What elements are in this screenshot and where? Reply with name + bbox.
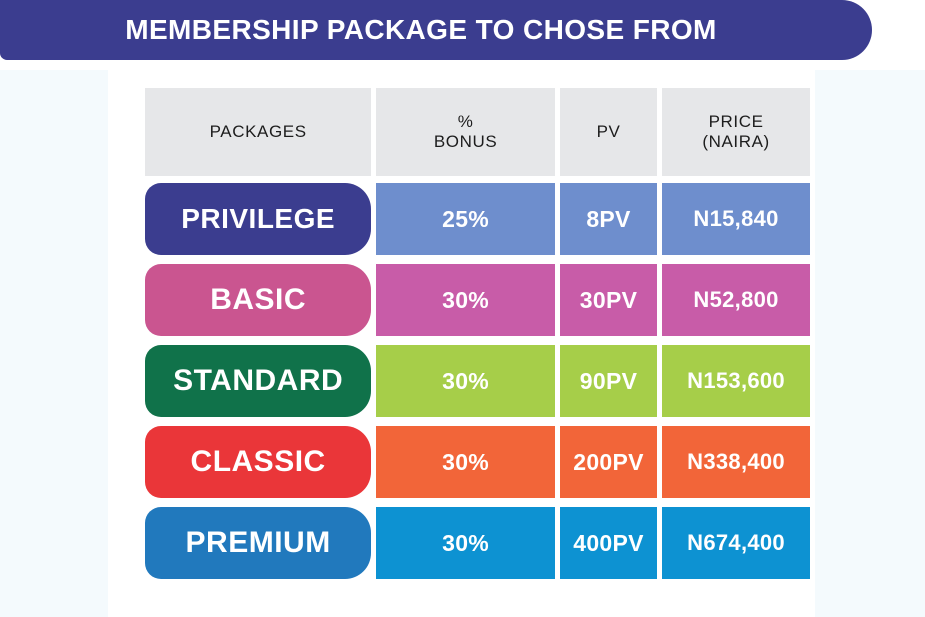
header-banner: MEMBERSHIP PACKAGE TO CHOSE FROM (0, 0, 872, 60)
cell-bonus: 30% (376, 507, 555, 579)
cell-price: N15,840 (662, 183, 810, 255)
cell-bonus: 25% (376, 183, 555, 255)
cell-pv: 200PV (560, 426, 657, 498)
table-row[interactable]: PRIVILEGE25%8PVN15,840 (145, 183, 810, 255)
column-header-bonus: % BONUS (376, 88, 555, 176)
cell-pv: 400PV (560, 507, 657, 579)
column-header-bonus-line1: % (434, 112, 497, 132)
table-row[interactable]: CLASSIC30%200PVN338,400 (145, 426, 810, 498)
table-row[interactable]: PREMIUM30%400PVN674,400 (145, 507, 810, 579)
page-title: MEMBERSHIP PACKAGE TO CHOSE FROM (125, 14, 717, 46)
cell-bonus: 30% (376, 345, 555, 417)
column-header-price: PRICE (NAIRA) (662, 88, 810, 176)
column-header-packages: PACKAGES (145, 88, 371, 176)
cell-bonus: 30% (376, 426, 555, 498)
cell-pv: 30PV (560, 264, 657, 336)
column-header-pv: PV (560, 88, 657, 176)
package-pill[interactable]: CLASSIC (145, 426, 371, 498)
column-header-price-line2: (NAIRA) (702, 132, 769, 152)
table-body: PRIVILEGE25%8PVN15,840BASIC30%30PVN52,80… (145, 183, 810, 579)
cell-price: N52,800 (662, 264, 810, 336)
column-header-bonus-line2: BONUS (434, 132, 497, 152)
membership-package-table: PACKAGES % BONUS PV PRICE (NAIRA) PRIVIL… (145, 88, 810, 588)
left-background-panel (0, 70, 108, 617)
cell-pv: 90PV (560, 345, 657, 417)
table-row[interactable]: BASIC30%30PVN52,800 (145, 264, 810, 336)
package-pill[interactable]: PRIVILEGE (145, 183, 371, 255)
cell-price: N338,400 (662, 426, 810, 498)
cell-price: N674,400 (662, 507, 810, 579)
column-header-price-line1: PRICE (702, 112, 769, 132)
package-pill[interactable]: STANDARD (145, 345, 371, 417)
cell-price: N153,600 (662, 345, 810, 417)
cell-pv: 8PV (560, 183, 657, 255)
package-pill[interactable]: PREMIUM (145, 507, 371, 579)
package-pill[interactable]: BASIC (145, 264, 371, 336)
table-header-row: PACKAGES % BONUS PV PRICE (NAIRA) (145, 88, 810, 176)
cell-bonus: 30% (376, 264, 555, 336)
table-row[interactable]: STANDARD30%90PVN153,600 (145, 345, 810, 417)
right-background-panel (815, 70, 925, 617)
